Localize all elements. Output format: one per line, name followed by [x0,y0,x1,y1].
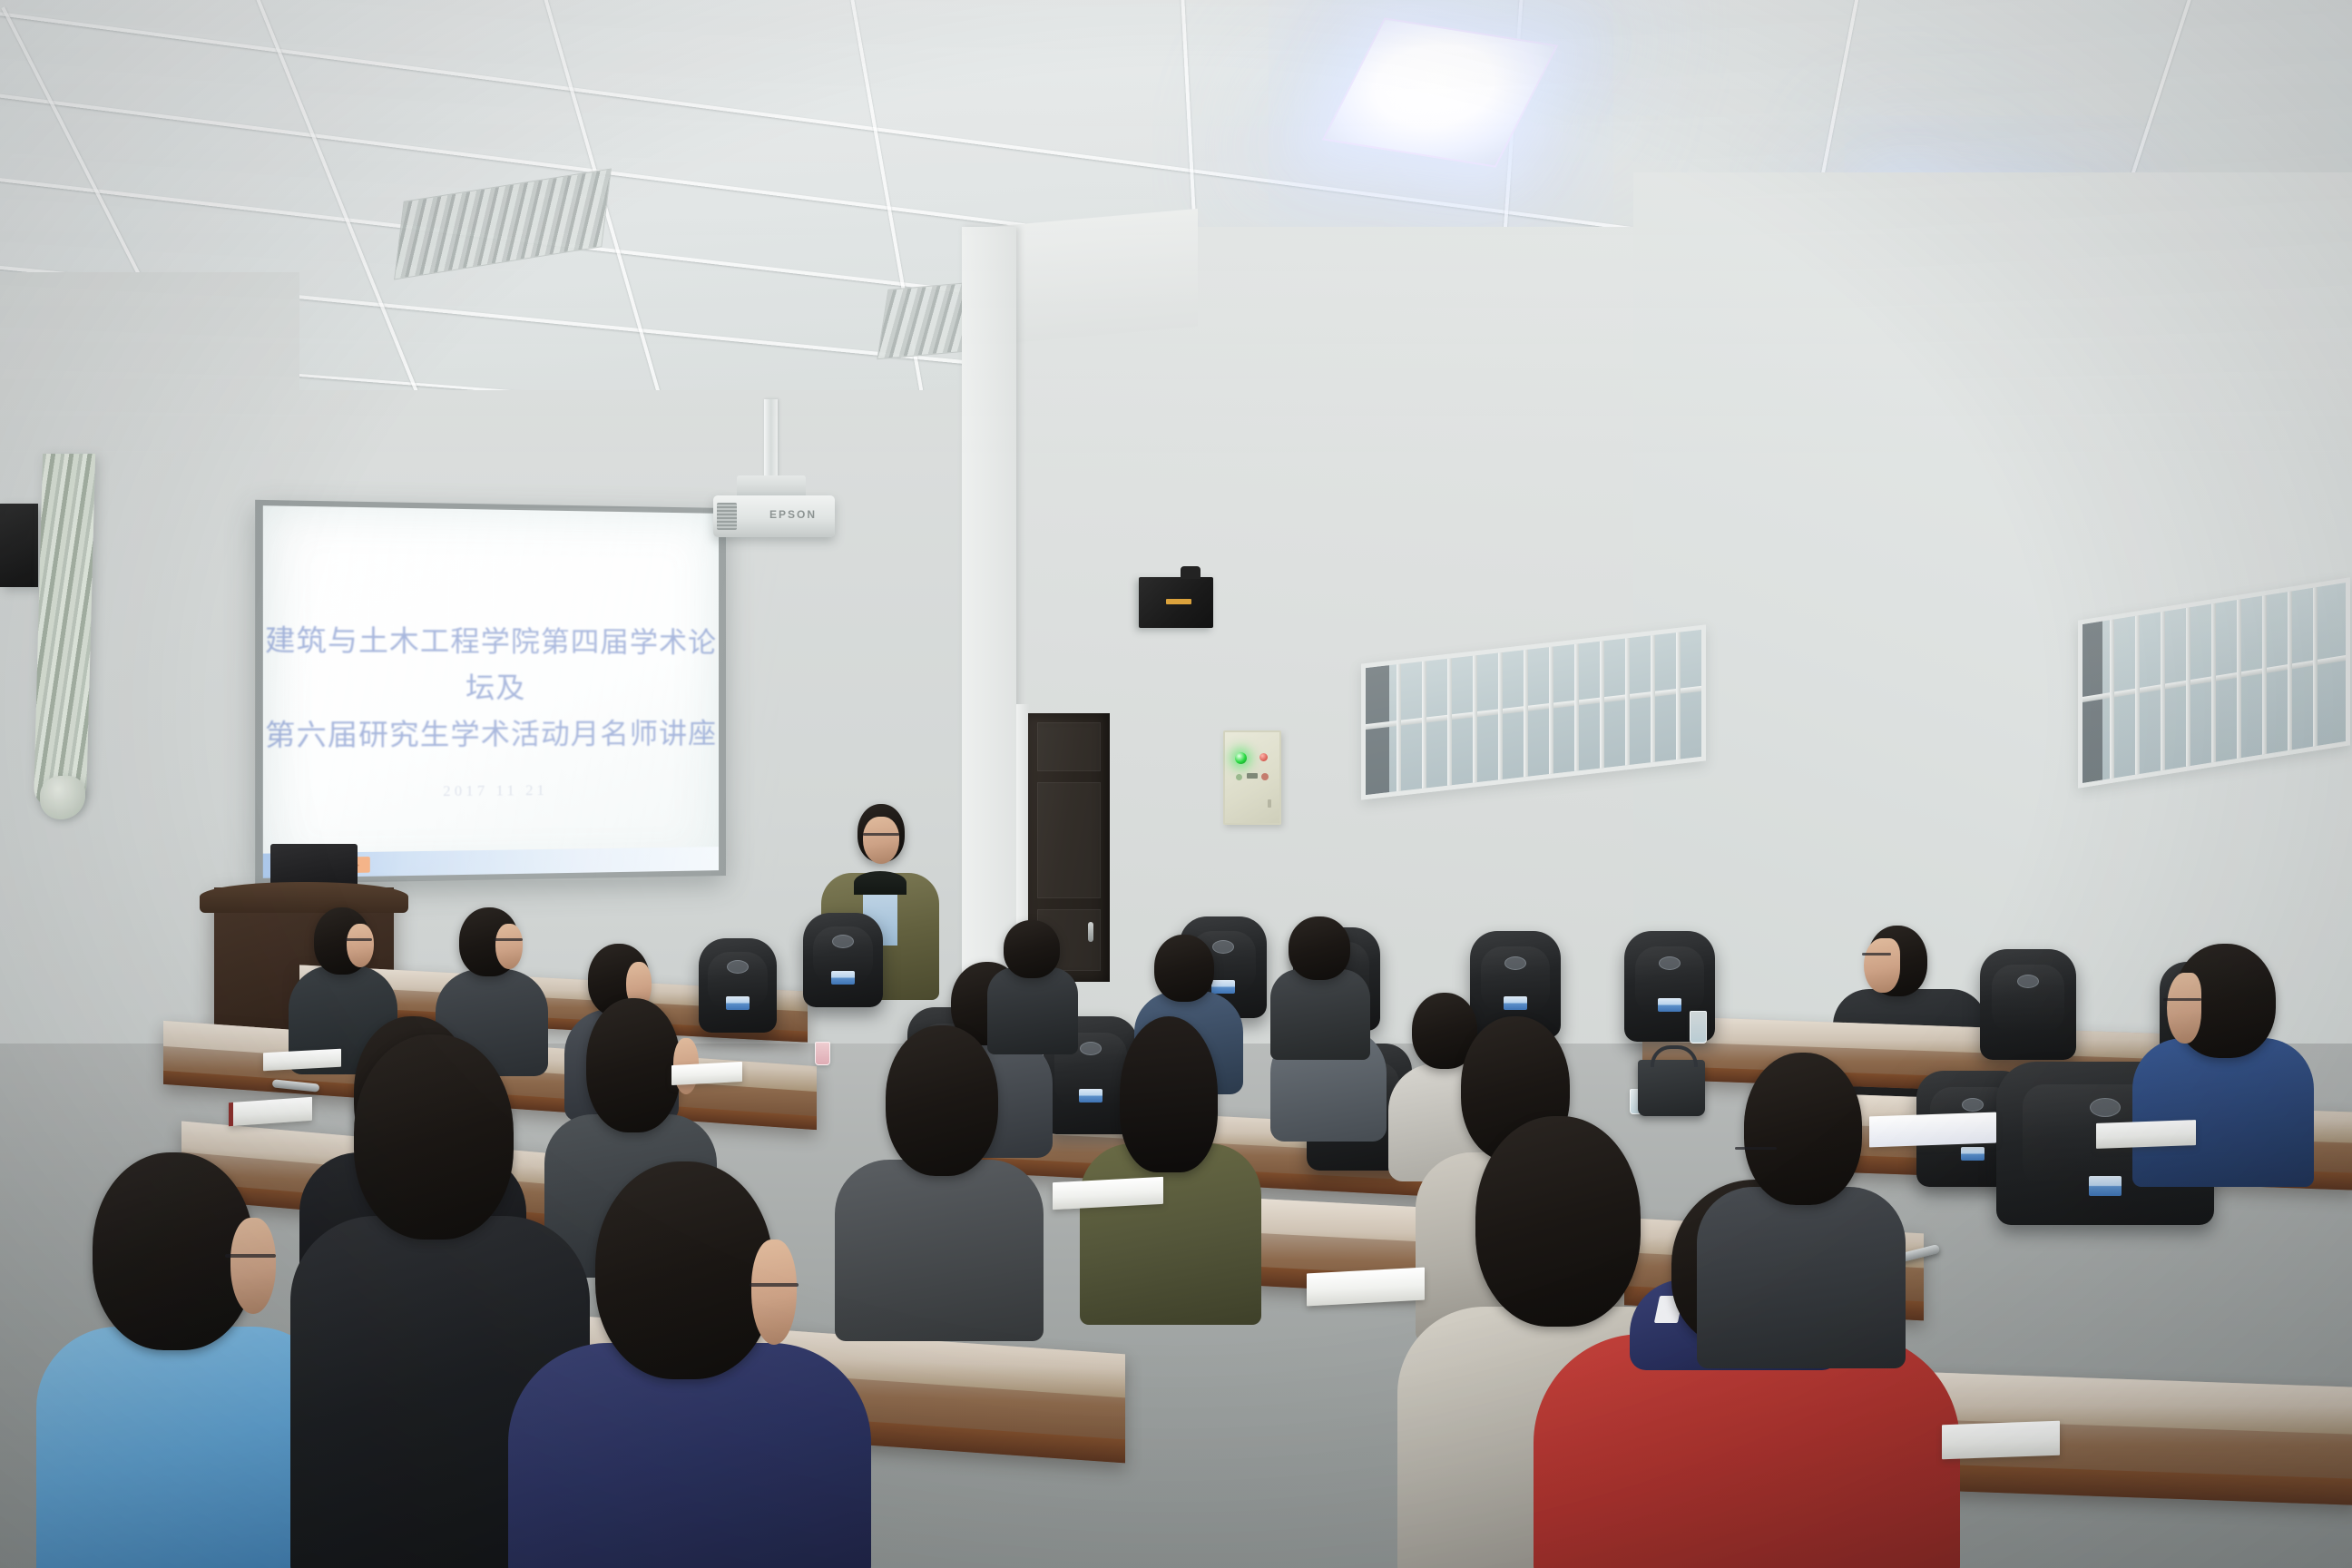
office-chair[interactable] [1980,949,2076,1060]
lecture-hall-photograph: 建筑与土木工程学院第四届学术论坛及 第六届研究生学术活动月名师讲座 2017 1… [0,0,2352,1568]
book-spine [229,1102,233,1126]
open-notebook [671,1062,742,1085]
audience-member [1080,1016,1261,1316]
documents [2096,1120,2196,1149]
glasses-icon [1862,953,1891,955]
projector-lens-icon [717,503,737,530]
wall-soffit [989,209,1198,345]
red-status-led-icon [1259,753,1268,761]
panel-button-1[interactable] [1236,774,1242,780]
electrical-control-panel[interactable] [1223,730,1281,825]
slide-title-text: 建筑与土木工程学院第四届学术论坛及 第六届研究生学术活动月名师讲座 [263,617,719,759]
presenter-collar [854,871,906,895]
audience-member [1270,916,1370,1053]
slide-date-text: 2017 11 21 [263,781,719,802]
presenter-face [863,817,899,864]
handbag [1638,1060,1705,1116]
glasses-icon [863,833,899,836]
wall-speaker [1139,577,1213,628]
open-notebook [1053,1177,1163,1210]
water-glass [1690,1011,1707,1044]
panel-lock-icon[interactable] [1268,799,1271,808]
ceiling-projector: EPSON [713,495,835,537]
green-status-led-icon [1235,752,1247,764]
documents [1869,1112,1996,1148]
speaker-brand-label [1166,599,1191,604]
office-chair[interactable] [803,913,883,1007]
audience-member [508,1161,871,1568]
projection-screen: 建筑与土木工程学院第四届学术论坛及 第六届研究生学术活动月名师讲座 2017 1… [255,500,726,884]
panel-button-2[interactable] [1261,773,1269,780]
water-glass [815,1042,830,1065]
door-handle-icon[interactable] [1088,922,1093,942]
left-wall-speaker [0,504,38,587]
projector-mount-pole [764,399,778,479]
documents [1942,1421,2060,1460]
audience-member [987,920,1078,1047]
screen-surface: 建筑与土木工程学院第四届学术论坛及 第六届研究生学术活动月名师讲座 2017 1… [263,505,719,878]
panel-switch[interactable] [1247,773,1258,779]
faculty-face [1864,938,1900,993]
audience-member [1697,1053,1906,1361]
open-notebook [1307,1268,1425,1307]
projector-brand-label: EPSON [769,508,817,521]
curtain [34,454,95,808]
